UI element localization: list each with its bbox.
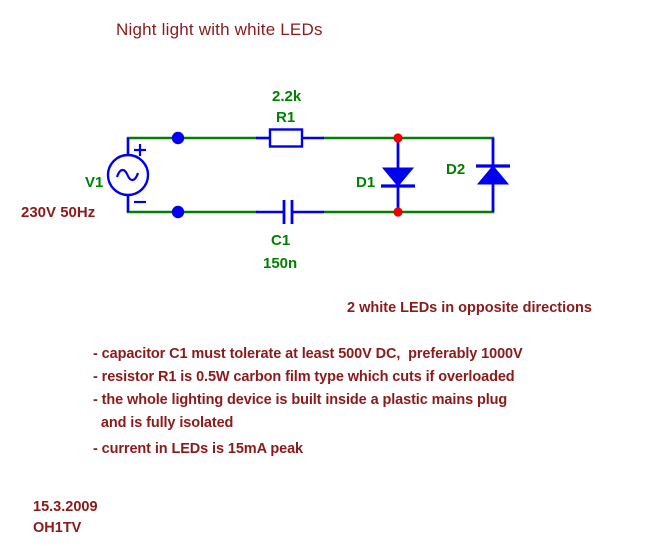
diode-d2-symbol: [476, 138, 510, 212]
c1-value-label: 150n: [263, 256, 297, 271]
junction-dot-source-bottom: [172, 206, 184, 218]
v1-ref-label: V1: [85, 175, 103, 190]
sine-wave-icon: [117, 170, 138, 180]
d2-triangle: [478, 166, 508, 184]
resistor-r1-symbol: [256, 130, 324, 147]
footer-callsign: OH1TV: [33, 521, 81, 536]
d1-ref-label: D1: [356, 175, 375, 190]
note-line-4: and is fully isolated: [93, 415, 233, 431]
schematic-sheet: Night light with white LEDs: [0, 0, 661, 546]
note-line-2: - resistor R1 is 0.5W carbon film type w…: [93, 369, 515, 385]
r1-body: [270, 130, 302, 147]
junction-dot-source-top: [172, 132, 184, 144]
junction-dot-d1-top: [393, 133, 402, 142]
leds-caption: 2 white LEDs in opposite directions: [347, 301, 592, 316]
d1-triangle: [383, 168, 413, 186]
note-line-3: - the whole lighting device is built ins…: [93, 392, 507, 408]
footer-date: 15.3.2009: [33, 500, 98, 515]
v1-value-label: 230V 50Hz: [21, 205, 95, 220]
circuit-schematic: [0, 0, 661, 546]
r1-ref-label: R1: [276, 110, 295, 125]
c1-ref-label: C1: [271, 233, 290, 248]
junction-dot-d1-bottom: [393, 207, 402, 216]
note-line-1: - capacitor C1 must tolerate at least 50…: [93, 346, 523, 362]
note-line-5: - current in LEDs is 15mA peak: [93, 441, 303, 457]
d2-ref-label: D2: [446, 162, 465, 177]
wire-group: [128, 138, 493, 212]
diode-d1-symbol: [381, 138, 415, 212]
r1-value-label: 2.2k: [272, 89, 301, 104]
capacitor-c1-symbol: [256, 200, 324, 224]
